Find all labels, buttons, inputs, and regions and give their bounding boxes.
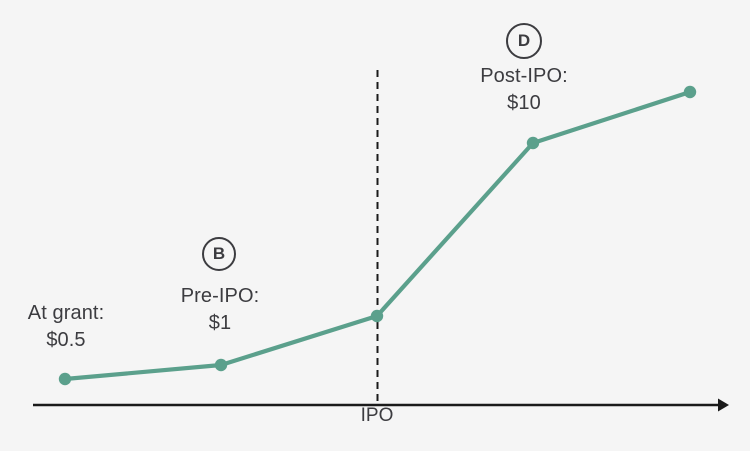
badge-d-letter: D	[518, 31, 530, 51]
annotation-pre-ipo-value: $1	[152, 310, 288, 337]
annotation-post-ipo-value: $10	[452, 90, 596, 117]
annotation-pre-ipo-title: Pre-IPO:	[152, 283, 288, 310]
badge-d: D	[506, 23, 542, 59]
annotation-at-grant: At grant: $0.5	[4, 300, 128, 354]
chart-canvas: At grant: $0.5 B Pre-IPO: $1 D Post-IPO:…	[0, 0, 750, 451]
badge-b-letter: B	[213, 244, 225, 264]
axis-label-ipo: IPO	[327, 405, 427, 427]
line-chart	[0, 0, 750, 451]
data-point-pre-ipo[interactable]	[215, 359, 227, 371]
data-point-ipo[interactable]	[371, 310, 383, 322]
annotation-post-ipo-title: Post-IPO:	[452, 63, 596, 90]
data-point-post-ipo[interactable]	[527, 137, 539, 149]
annotation-at-grant-value: $0.5	[4, 327, 128, 354]
data-point-later[interactable]	[684, 86, 696, 98]
annotation-at-grant-title: At grant:	[4, 300, 128, 327]
badge-b: B	[202, 237, 236, 271]
data-point-at-grant[interactable]	[59, 373, 71, 385]
annotation-pre-ipo: Pre-IPO: $1	[152, 283, 288, 337]
annotation-post-ipo: Post-IPO: $10	[452, 63, 596, 117]
x-axis-arrowhead	[718, 399, 729, 412]
